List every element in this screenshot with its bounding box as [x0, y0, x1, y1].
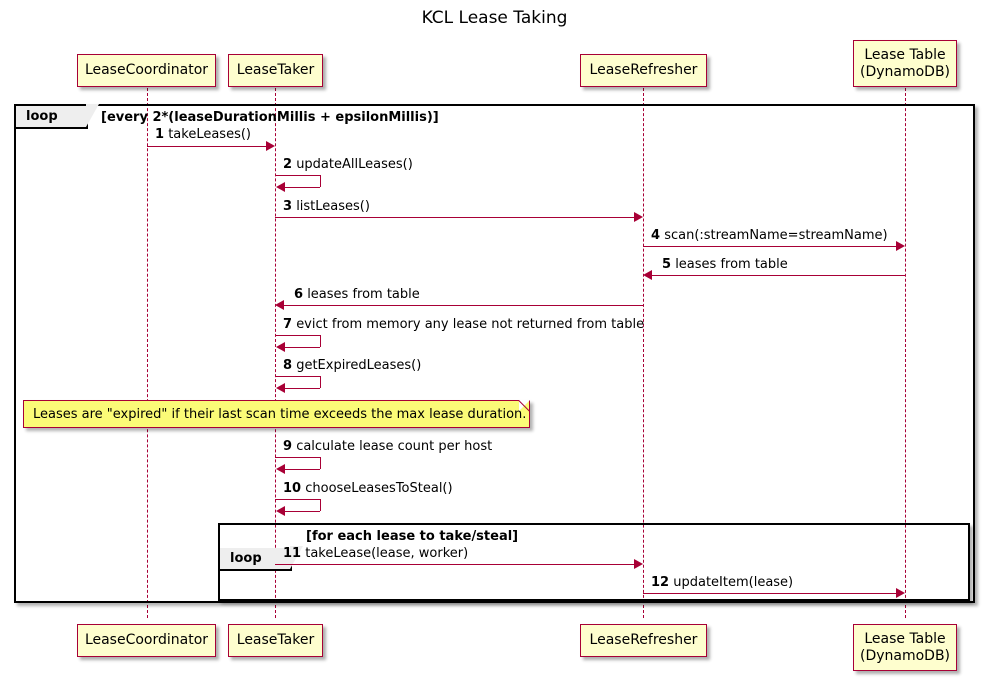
message-12-number: 12 [651, 575, 669, 590]
message-11-line [275, 564, 634, 565]
participant-table-top[interactable]: Lease Table (DynamoDB) [853, 40, 957, 87]
message-1: 1 takeLeases() [155, 127, 251, 142]
message-1-number: 1 [155, 127, 164, 142]
message-12-arrowhead [896, 588, 905, 598]
frame-inner-loop-tab: loop [220, 548, 292, 571]
message-6-line [284, 305, 643, 306]
message-12: 12 updateItem(lease) [651, 575, 793, 590]
participant-table-top-label2: (DynamoDB) [860, 64, 950, 81]
participant-refresher-bottom-label: LeaseRefresher [590, 632, 698, 649]
message-6-arrowhead [275, 300, 284, 310]
message-5-number: 5 [662, 257, 671, 272]
message-10-line-top [275, 499, 320, 500]
message-12-line [643, 593, 896, 594]
message-2-arrowhead [276, 182, 285, 192]
message-11: 11 takeLease(lease, worker) [283, 546, 468, 561]
message-3-number: 3 [283, 199, 292, 214]
message-7-line-bottom [285, 347, 320, 348]
message-2: 2 updateAllLeases() [283, 157, 413, 172]
message-7: 7 evict from memory any lease not return… [283, 317, 644, 332]
message-2-line-top [275, 175, 320, 176]
frame-outer-loop-tab-label: loop [26, 109, 58, 124]
message-2-line-right [320, 175, 321, 187]
message-8-line-top [275, 376, 320, 377]
note-expired-leases-text: Leases are "expired" if their last scan … [33, 407, 526, 422]
participant-taker-top-label: LeaseTaker [237, 62, 314, 79]
participant-refresher-top[interactable]: LeaseRefresher [580, 54, 707, 87]
message-9-line-top [275, 457, 320, 458]
message-7-number: 7 [283, 317, 292, 332]
diagram-title: KCL Lease Taking [0, 8, 989, 28]
message-6-text: leases from table [307, 287, 420, 302]
message-4: 4 scan(:streamName=streamName) [651, 228, 888, 243]
message-4-text: scan(:streamName=streamName) [664, 228, 887, 243]
message-8-number: 8 [283, 358, 292, 373]
message-11-arrowhead [634, 559, 643, 569]
message-6: 6 leases from table [294, 287, 420, 302]
message-5: 5 leases from table [662, 257, 788, 272]
participant-taker-top[interactable]: LeaseTaker [228, 54, 323, 87]
message-4-line [643, 246, 896, 247]
message-10-arrowhead [276, 506, 285, 516]
message-9-number: 9 [283, 439, 292, 454]
message-4-arrowhead [896, 241, 905, 251]
message-1-text: takeLeases() [168, 127, 251, 142]
message-10-text: chooseLeasesToSteal() [305, 481, 452, 496]
sequence-diagram-canvas: KCL Lease Taking loop [every 2*(leaseDur… [0, 0, 989, 681]
message-5-line [652, 275, 905, 276]
message-5-text: leases from table [675, 257, 788, 272]
message-3-arrowhead [634, 212, 643, 222]
participant-coordinator-top[interactable]: LeaseCoordinator [77, 54, 216, 87]
participant-coordinator-bottom[interactable]: LeaseCoordinator [77, 624, 216, 657]
message-12-text: updateItem(lease) [673, 575, 793, 590]
message-10-number: 10 [283, 481, 301, 496]
participant-taker-bottom[interactable]: LeaseTaker [228, 624, 323, 657]
message-8-line-right [320, 376, 321, 388]
message-4-number: 4 [651, 228, 660, 243]
message-1-line [147, 146, 266, 147]
frame-outer-loop-condition: [every 2*(leaseDurationMillis + epsilonM… [101, 110, 439, 125]
message-1-arrowhead [266, 141, 275, 151]
message-10-line-right [320, 499, 321, 511]
message-8-arrowhead [276, 383, 285, 393]
message-7-text: evict from memory any lease not returned… [296, 317, 644, 332]
frame-inner-loop-condition: [for each lease to take/steal] [306, 529, 518, 544]
message-7-line-top [275, 335, 320, 336]
message-7-arrowhead [276, 342, 285, 352]
participant-table-bottom-label: Lease Table [864, 631, 945, 648]
message-9-arrowhead [276, 464, 285, 474]
frame-outer-loop-tab: loop [16, 106, 88, 129]
message-9: 9 calculate lease count per host [283, 439, 492, 454]
frame-inner-loop-tab-label: loop [230, 551, 262, 566]
message-2-line-bottom [285, 187, 320, 188]
message-3-line [275, 217, 634, 218]
participant-taker-bottom-label: LeaseTaker [237, 632, 314, 649]
message-9-line-bottom [285, 469, 320, 470]
message-9-text: calculate lease count per host [296, 439, 492, 454]
message-8: 8 getExpiredLeases() [283, 358, 421, 373]
message-5-arrowhead [643, 270, 652, 280]
participant-refresher-bottom[interactable]: LeaseRefresher [580, 624, 707, 657]
message-11-text: takeLease(lease, worker) [305, 546, 468, 561]
message-11-number: 11 [283, 546, 301, 561]
message-8-line-bottom [285, 388, 320, 389]
message-6-number: 6 [294, 287, 303, 302]
participant-coordinator-top-label: LeaseCoordinator [85, 62, 208, 79]
participant-refresher-top-label: LeaseRefresher [590, 62, 698, 79]
message-3: 3 listLeases() [283, 199, 370, 214]
participant-coordinator-bottom-label: LeaseCoordinator [85, 632, 208, 649]
note-expired-leases: Leases are "expired" if their last scan … [23, 400, 530, 428]
message-9-line-right [320, 457, 321, 469]
message-2-text: updateAllLeases() [296, 157, 413, 172]
message-3-text: listLeases() [296, 199, 370, 214]
participant-table-bottom-label2: (DynamoDB) [860, 648, 950, 665]
message-10: 10 chooseLeasesToSteal() [283, 481, 453, 496]
message-8-text: getExpiredLeases() [296, 358, 421, 373]
participant-table-top-label: Lease Table [864, 47, 945, 64]
message-10-line-bottom [285, 511, 320, 512]
message-7-line-right [320, 335, 321, 347]
message-2-number: 2 [283, 157, 292, 172]
participant-table-bottom[interactable]: Lease Table (DynamoDB) [853, 624, 957, 671]
